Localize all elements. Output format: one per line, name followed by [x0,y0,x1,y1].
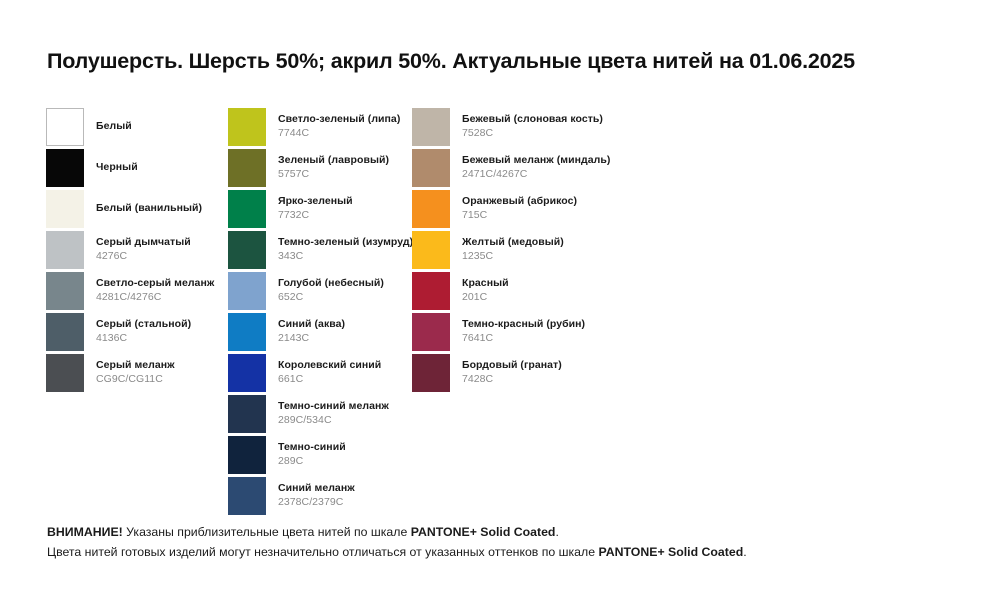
page-title: Полушерсть. Шерсть 50%; акрил 50%. Актуа… [47,49,855,74]
pantone-code: 343C [278,250,413,264]
pantone-code: CG9C/CG11C [96,373,175,387]
footer-line-2: Цвета нитей готовых изделий могут незнач… [47,543,747,563]
pantone-code: 7528C [462,127,603,141]
color-swatch[interactable] [228,108,266,146]
color-swatch[interactable] [228,436,266,474]
pantone-code: 289C [278,455,346,469]
color-name: Синий меланж [278,482,355,495]
color-swatch[interactable] [46,231,84,269]
color-swatch[interactable] [46,313,84,351]
color-name: Серый дымчатый [96,236,191,249]
pantone-code: 2378C/2379C [278,496,355,510]
pantone-brand-2: PANTONE+ Solid Coated [598,545,743,559]
color-name: Зеленый (лавровый) [278,154,389,167]
swatch-labels: Темно-синий меланж289C/534C [278,395,389,433]
color-name: Светло-серый меланж [96,277,214,290]
footer-line-1-text: Указаны приблизительные цвета нитей по ш… [123,525,411,539]
pantone-code: 289C/534C [278,414,389,428]
color-swatch[interactable] [228,190,266,228]
color-name: Темно-красный (рубин) [462,318,585,331]
color-swatch[interactable] [46,108,84,146]
color-name: Белый (ванильный) [96,203,202,215]
attention-label: ВНИМАНИЕ! [47,525,123,539]
pantone-code: 7428C [462,373,562,387]
color-swatch[interactable] [46,354,84,392]
color-name: Красный [462,277,509,290]
pantone-code: 2471C/4267C [462,168,610,182]
color-name: Темно-синий [278,441,346,454]
pantone-code: 4276C [96,250,191,264]
color-name: Серый меланж [96,359,175,372]
color-swatch[interactable] [46,149,84,187]
color-name: Бежевый (слоновая кость) [462,113,603,126]
swatch-labels: Синий (аква)2143C [278,313,345,351]
color-swatch[interactable] [228,149,266,187]
color-name: Бордовый (гранат) [462,359,562,372]
color-name: Синий (аква) [278,318,345,331]
color-name: Королевский синий [278,359,381,372]
color-swatch[interactable] [412,108,450,146]
swatch-labels: Красный201C [462,272,509,310]
color-swatch[interactable] [412,149,450,187]
swatch-labels: Бордовый (гранат)7428C [462,354,562,392]
swatch-labels: Оранжевый (абрикос)715C [462,190,577,228]
pantone-code: 7732C [278,209,353,223]
swatch-labels: Темно-зеленый (изумруд)343C [278,231,413,269]
color-name: Бежевый меланж (миндаль) [462,154,610,167]
color-name: Ярко-зеленый [278,195,353,208]
pantone-code: 715C [462,209,577,223]
color-name: Голубой (небесный) [278,277,384,290]
swatch-labels: Желтый (медовый)1235C [462,231,564,269]
color-name: Светло-зеленый (липа) [278,113,400,126]
color-swatch[interactable] [412,272,450,310]
swatch-labels: Синий меланж2378C/2379C [278,477,355,515]
swatch-labels: Зеленый (лавровый)5757C [278,149,389,187]
color-swatch[interactable] [46,272,84,310]
pantone-code: 5757C [278,168,389,182]
swatch-labels: Светло-зеленый (липа)7744C [278,108,400,146]
pantone-code: 7744C [278,127,400,141]
swatch-labels: Бежевый меланж (миндаль)2471C/4267C [462,149,610,187]
footer-line-1-end: . [555,525,558,539]
swatch-labels: Ярко-зеленый7732C [278,190,353,228]
color-name: Темно-зеленый (изумруд) [278,236,413,249]
color-swatch[interactable] [46,190,84,228]
color-name: Черный [96,162,138,174]
swatch-labels: Бежевый (слоновая кость)7528C [462,108,603,146]
color-name: Оранжевый (абрикос) [462,195,577,208]
color-swatch[interactable] [228,354,266,392]
color-name: Желтый (медовый) [462,236,564,249]
swatch-labels: Серый дымчатый4276C [96,231,191,269]
pantone-code: 652C [278,291,384,305]
swatch-labels: Светло-серый меланж4281C/4276C [96,272,214,310]
swatch-labels: Темно-синий289C [278,436,346,474]
color-swatch[interactable] [228,313,266,351]
swatch-labels: Белый (ванильный) [96,190,202,228]
footer-disclaimer: ВНИМАНИЕ! Указаны приблизительные цвета … [47,523,747,563]
color-name: Серый (стальной) [96,318,191,331]
footer-line-2-text: Цвета нитей готовых изделий могут незнач… [47,545,598,559]
pantone-brand-1: PANTONE+ Solid Coated [411,525,556,539]
pantone-code: 4136C [96,332,191,346]
swatch-labels: Голубой (небесный)652C [278,272,384,310]
color-swatch[interactable] [228,477,266,515]
swatch-labels: Белый [96,108,132,146]
footer-line-1: ВНИМАНИЕ! Указаны приблизительные цвета … [47,523,747,543]
color-chart-page: Полушерсть. Шерсть 50%; акрил 50%. Актуа… [0,0,1000,609]
color-swatch[interactable] [228,395,266,433]
pantone-code: 7641C [462,332,585,346]
color-name: Белый [96,121,132,133]
pantone-code: 1235C [462,250,564,264]
color-swatch[interactable] [228,231,266,269]
swatch-labels: Королевский синий661C [278,354,381,392]
color-swatch[interactable] [228,272,266,310]
color-swatch[interactable] [412,313,450,351]
swatch-labels: Черный [96,149,138,187]
swatch-labels: Серый (стальной)4136C [96,313,191,351]
color-swatch[interactable] [412,190,450,228]
color-swatch[interactable] [412,231,450,269]
pantone-code: 661C [278,373,381,387]
swatch-labels: Темно-красный (рубин)7641C [462,313,585,351]
footer-line-2-end: . [743,545,746,559]
swatch-labels: Серый меланжCG9C/CG11C [96,354,175,392]
pantone-code: 2143C [278,332,345,346]
pantone-code: 4281C/4276C [96,291,214,305]
pantone-code: 201C [462,291,509,305]
color-name: Темно-синий меланж [278,400,389,413]
color-swatch[interactable] [412,354,450,392]
